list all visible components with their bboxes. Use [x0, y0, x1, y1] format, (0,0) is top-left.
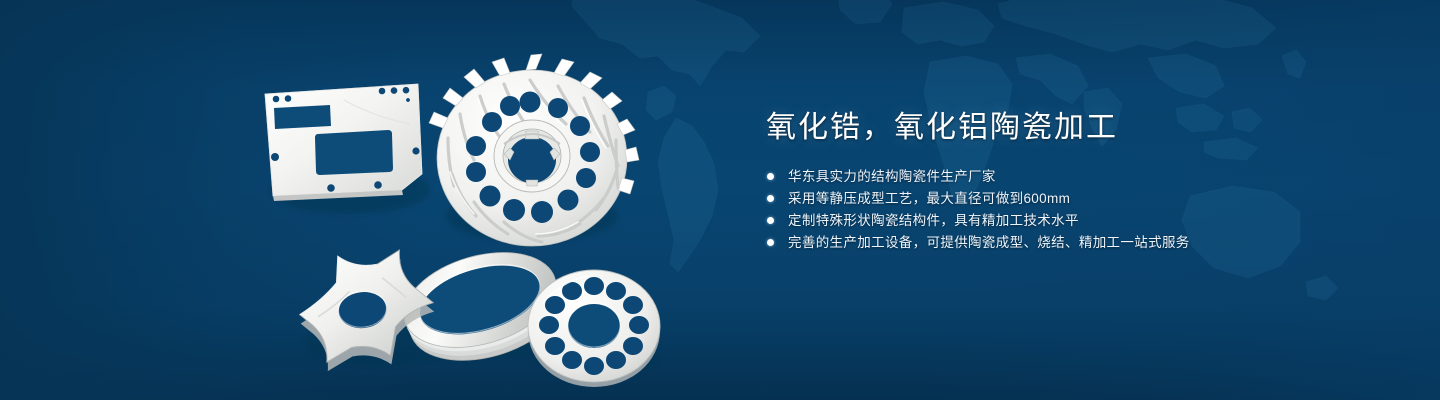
ceramic-parts-photo: [232, 38, 684, 380]
banner-headline: 氧化锆，氧化铝陶瓷加工: [766, 108, 1366, 148]
bullet-dot-icon: [767, 195, 774, 202]
list-item: 采用等静压成型工艺，最大直径可做到600mm: [766, 192, 1366, 206]
bullet-dot-icon: [767, 173, 774, 180]
list-item-label: 华东具实力的结构陶瓷件生产厂家: [788, 169, 996, 184]
list-item: 定制特殊形状陶瓷结构件，具有精加工技术水平: [766, 214, 1366, 228]
list-item: 华东具实力的结构陶瓷件生产厂家: [766, 170, 1366, 184]
list-item-label: 完善的生产加工设备，可提供陶瓷成型、烧结、精加工一站式服务: [788, 235, 1190, 250]
list-item: 完善的生产加工设备，可提供陶瓷成型、烧结、精加工一站式服务: [766, 236, 1366, 250]
bullet-dot-icon: [767, 217, 774, 224]
list-item-label: 定制特殊形状陶瓷结构件，具有精加工技术水平: [788, 213, 1079, 228]
banner-copy: 氧化锆，氧化铝陶瓷加工 华东具实力的结构陶瓷件生产厂家 采用等静压成型工艺，最大…: [766, 108, 1366, 250]
banner-feature-list: 华东具实力的结构陶瓷件生产厂家 采用等静压成型工艺，最大直径可做到600mm 定…: [766, 170, 1366, 250]
perforated-ceramic-ring-disc: [528, 270, 660, 387]
list-item-label: 采用等静压成型工艺，最大直径可做到600mm: [788, 191, 1070, 206]
ceramic-processing-banner: 氧化锆，氧化铝陶瓷加工 华东具实力的结构陶瓷件生产厂家 采用等静压成型工艺，最大…: [0, 0, 1440, 400]
machined-ceramic-plate: [265, 84, 422, 201]
bullet-dot-icon: [767, 239, 774, 246]
